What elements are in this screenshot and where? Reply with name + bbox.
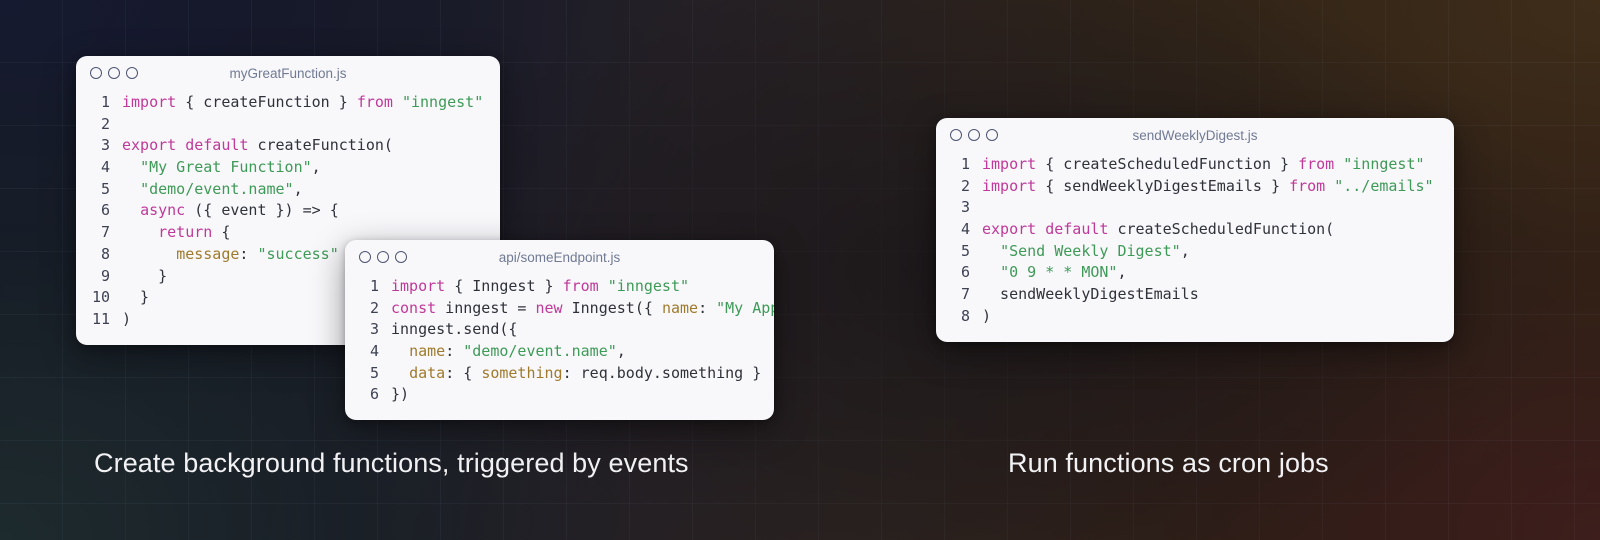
code-token: something (481, 364, 562, 382)
code-token: new (536, 299, 563, 317)
code-token: from (1289, 177, 1325, 195)
code-line: 5 data: { something: req.body.something … (345, 363, 774, 385)
line-number: 6 (936, 262, 970, 284)
line-number: 6 (345, 384, 379, 406)
line-number: 7 (76, 222, 110, 244)
code-token: "inngest" (1343, 155, 1424, 173)
code-window-api-some-endpoint: api/someEndpoint.js 1import { Inngest } … (345, 240, 774, 420)
code-token: const (391, 299, 436, 317)
code-token: export default (122, 136, 248, 154)
code-token: , (1117, 263, 1126, 281)
code-line: 3inngest.send({ (345, 319, 774, 341)
code-token: , (617, 342, 626, 360)
window-title: api/someEndpoint.js (345, 240, 774, 276)
line-number: 4 (936, 219, 970, 241)
line-number: 3 (76, 135, 110, 157)
code-token (393, 93, 402, 111)
code-token: async (140, 201, 185, 219)
code-token: createFunction( (248, 136, 393, 154)
line-number: 4 (76, 157, 110, 179)
code-token: ({ event }) => { (185, 201, 339, 219)
line-number: 6 (76, 200, 110, 222)
code-token: name (409, 342, 445, 360)
code-token (122, 245, 176, 263)
code-token: from (563, 277, 599, 295)
close-dot-icon[interactable] (359, 251, 371, 263)
code-token: ) (982, 307, 991, 325)
code-token: : (698, 299, 716, 317)
code-token: , (312, 158, 321, 176)
code-token (122, 180, 140, 198)
window-controls (359, 251, 407, 263)
code-token (391, 342, 409, 360)
code-token: "Send Weekly Digest" (1000, 242, 1181, 260)
code-line: 5 "Send Weekly Digest", (936, 241, 1454, 263)
line-number: 3 (936, 197, 970, 219)
minimize-dot-icon[interactable] (108, 67, 120, 79)
line-number: 5 (345, 363, 379, 385)
code-token: "inngest" (402, 93, 483, 111)
code-token: , (1181, 242, 1190, 260)
line-number: 8 (76, 244, 110, 266)
code-line: 3 (936, 197, 1454, 219)
code-line: 4export default createScheduledFunction( (936, 219, 1454, 241)
code-token: { (212, 223, 230, 241)
line-number: 2 (345, 298, 379, 320)
minimize-dot-icon[interactable] (377, 251, 389, 263)
code-token: }) (391, 385, 409, 403)
code-token: { createScheduledFunction } (1036, 155, 1298, 173)
line-number: 1 (76, 92, 110, 114)
line-number: 3 (345, 319, 379, 341)
code-line: 1import { createFunction } from "inngest… (76, 92, 500, 114)
code-token (982, 263, 1000, 281)
code-line: 1import { createScheduledFunction } from… (936, 154, 1454, 176)
code-token: from (1298, 155, 1334, 173)
code-token: import (982, 155, 1036, 173)
window-titlebar: myGreatFunction.js (76, 56, 500, 92)
code-token: return (158, 223, 212, 241)
line-number: 10 (76, 287, 110, 309)
code-token: from (357, 93, 393, 111)
code-token: import (122, 93, 176, 111)
line-number: 7 (936, 284, 970, 306)
window-controls (950, 129, 998, 141)
code-line: 3export default createFunction( (76, 135, 500, 157)
close-dot-icon[interactable] (950, 129, 962, 141)
code-token: inngest = (436, 299, 535, 317)
code-token: sendWeeklyDigestEmails (982, 285, 1199, 303)
window-title: sendWeeklyDigest.js (936, 118, 1454, 154)
code-token: "My Great Function" (140, 158, 312, 176)
window-controls (90, 67, 138, 79)
code-token: : req.body.something } (563, 364, 762, 382)
code-block: 1import { Inngest } from "inngest"2const… (345, 276, 774, 420)
code-token (982, 242, 1000, 260)
code-token: : (239, 245, 257, 263)
code-line: 4 "My Great Function", (76, 157, 500, 179)
code-window-send-weekly-digest: sendWeeklyDigest.js 1import { createSche… (936, 118, 1454, 342)
code-token (1334, 155, 1343, 173)
code-line: 2import { sendWeeklyDigestEmails } from … (936, 176, 1454, 198)
window-titlebar: api/someEndpoint.js (345, 240, 774, 276)
code-token: } (122, 288, 149, 306)
line-number: 5 (76, 179, 110, 201)
line-number: 2 (76, 114, 110, 136)
code-token: "demo/event.name" (140, 180, 294, 198)
code-token: message (176, 245, 239, 263)
maximize-dot-icon[interactable] (986, 129, 998, 141)
code-token: createScheduledFunction( (1108, 220, 1334, 238)
line-number: 2 (936, 176, 970, 198)
code-token (122, 158, 140, 176)
code-token (391, 364, 409, 382)
code-line: 2const inngest = new Inngest({ name: "My… (345, 298, 774, 320)
code-line: 6 async ({ event }) => { (76, 200, 500, 222)
line-number: 1 (345, 276, 379, 298)
code-token: import (982, 177, 1036, 195)
caption-left: Create background functions, triggered b… (94, 448, 689, 479)
line-number: 8 (936, 306, 970, 328)
code-line: 6}) (345, 384, 774, 406)
code-token: "inngest" (608, 277, 689, 295)
maximize-dot-icon[interactable] (126, 67, 138, 79)
code-token (122, 201, 140, 219)
code-token: { createFunction } (176, 93, 357, 111)
code-line: 6 "0 9 * * MON", (936, 262, 1454, 284)
code-token: { Inngest } (445, 277, 562, 295)
code-line: 8) (936, 306, 1454, 328)
line-number: 4 (345, 341, 379, 363)
maximize-dot-icon[interactable] (395, 251, 407, 263)
code-token: Inngest({ (563, 299, 662, 317)
code-line: 1import { Inngest } from "inngest" (345, 276, 774, 298)
code-token: data (409, 364, 445, 382)
code-token: "../emails" (1334, 177, 1433, 195)
line-number: 1 (936, 154, 970, 176)
code-token: name (662, 299, 698, 317)
window-titlebar: sendWeeklyDigest.js (936, 118, 1454, 154)
code-line: 4 name: "demo/event.name", (345, 341, 774, 363)
line-number: 5 (936, 241, 970, 263)
code-token: export default (982, 220, 1108, 238)
code-token: import (391, 277, 445, 295)
code-token (599, 277, 608, 295)
code-token: "My App" (716, 299, 774, 317)
line-number: 11 (76, 309, 110, 331)
code-token: "demo/event.name" (463, 342, 617, 360)
code-block: 1import { createScheduledFunction } from… (936, 154, 1454, 342)
code-token: "0 9 * * MON" (1000, 263, 1117, 281)
close-dot-icon[interactable] (90, 67, 102, 79)
code-token (1325, 177, 1334, 195)
caption-right: Run functions as cron jobs (1008, 448, 1329, 479)
hero-banner: myGreatFunction.js 1import { createFunct… (0, 0, 1600, 540)
code-token: } (122, 267, 167, 285)
code-token: inngest.send({ (391, 320, 517, 338)
code-line: 5 "demo/event.name", (76, 179, 500, 201)
code-token: : { (445, 364, 481, 382)
code-token: ) (122, 310, 131, 328)
minimize-dot-icon[interactable] (968, 129, 980, 141)
line-number: 9 (76, 266, 110, 288)
code-token: , (294, 180, 303, 198)
code-line: 2 (76, 114, 500, 136)
code-token: : (445, 342, 463, 360)
code-line: 7 sendWeeklyDigestEmails (936, 284, 1454, 306)
window-title: myGreatFunction.js (76, 56, 500, 92)
code-token: "success" (257, 245, 338, 263)
code-token: { sendWeeklyDigestEmails } (1036, 177, 1289, 195)
code-token (122, 223, 158, 241)
